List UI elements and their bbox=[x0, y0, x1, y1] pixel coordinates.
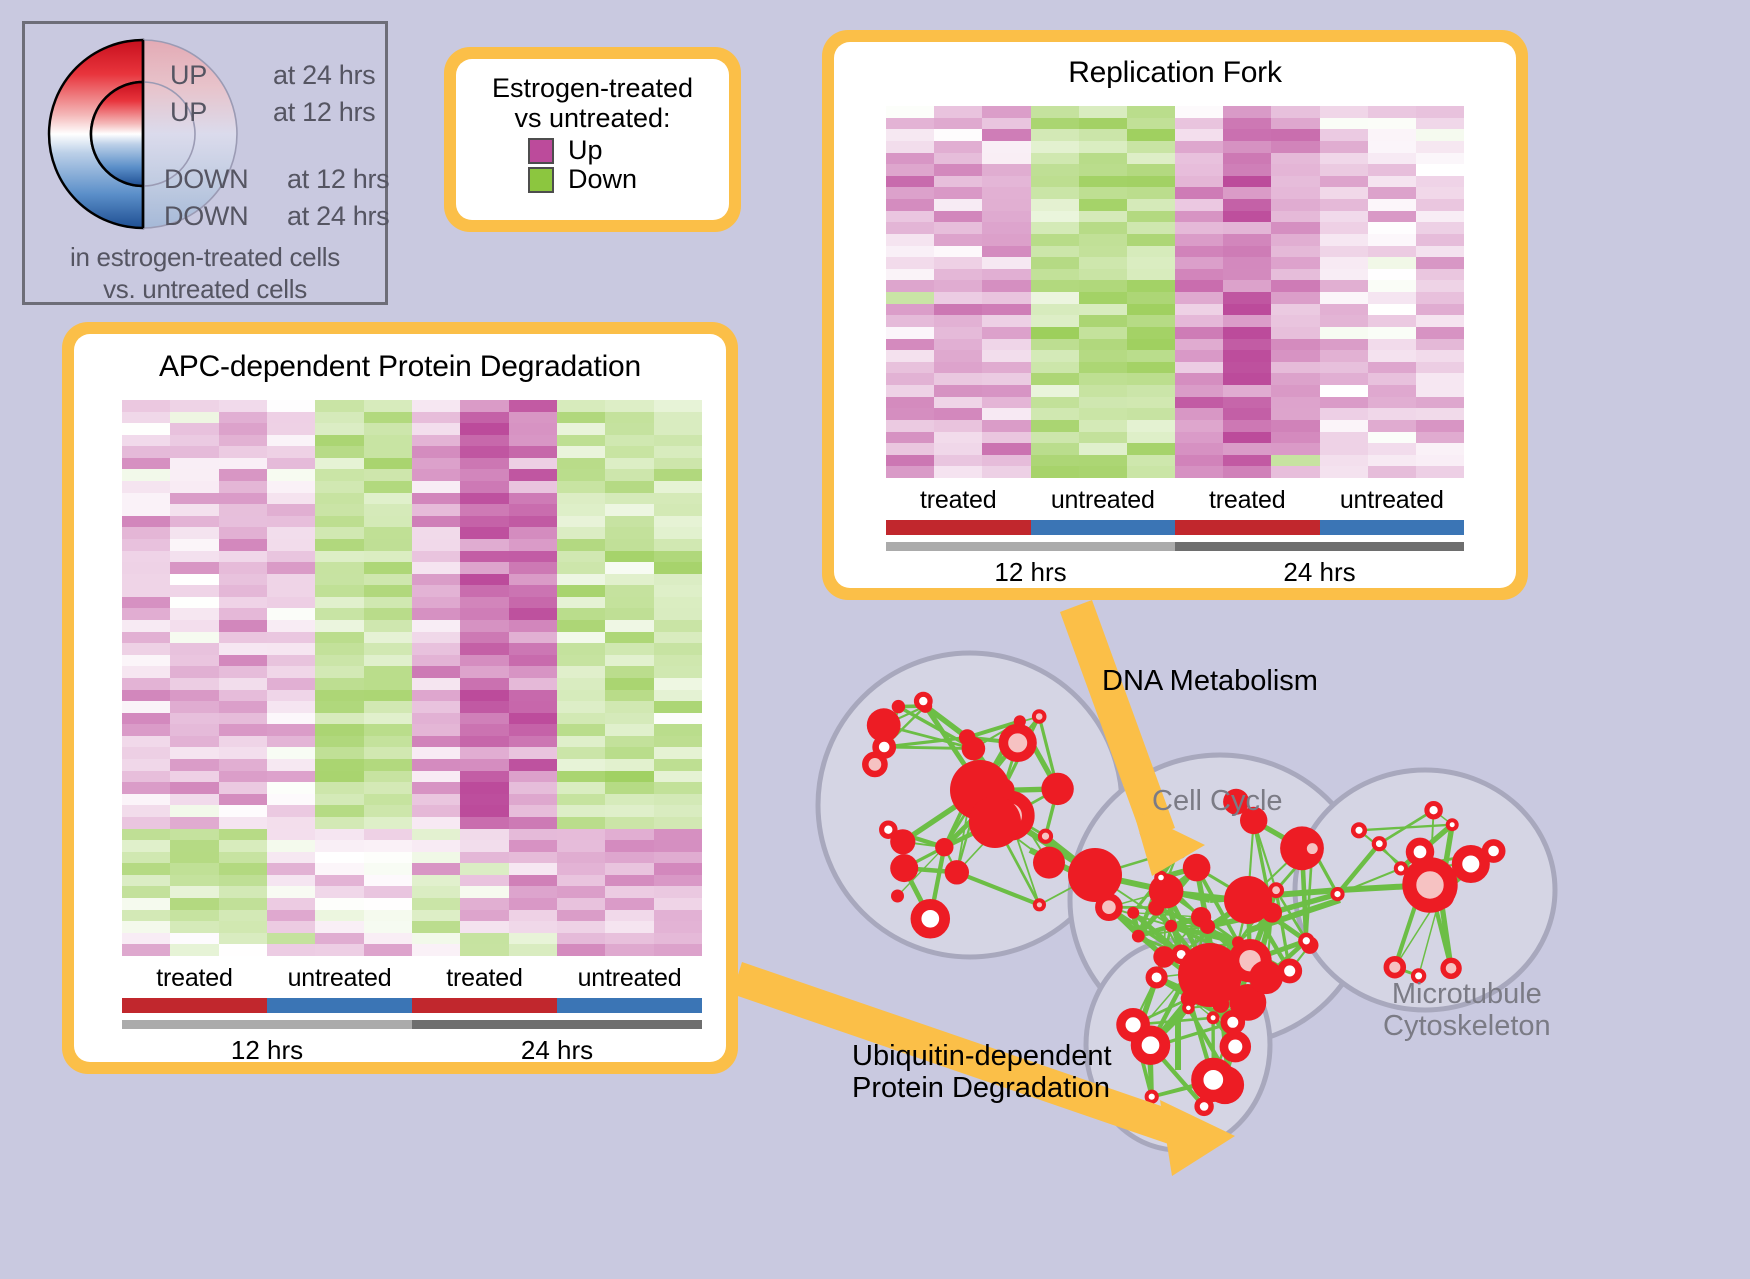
network-node[interactable] bbox=[1374, 838, 1385, 849]
heatmap-cell bbox=[267, 840, 315, 852]
network-node[interactable] bbox=[1147, 1092, 1157, 1102]
network-node[interactable] bbox=[916, 905, 945, 934]
network-node[interactable] bbox=[1304, 840, 1320, 856]
heatmap-cell bbox=[886, 373, 934, 385]
network-node[interactable] bbox=[1034, 711, 1045, 722]
treatment-bar bbox=[1031, 520, 1176, 535]
heatmap-cell bbox=[605, 782, 653, 794]
heatmap-cell bbox=[315, 539, 363, 551]
heatmap-cell bbox=[509, 771, 557, 783]
network-node[interactable] bbox=[1148, 900, 1164, 916]
heatmap-cell bbox=[122, 690, 170, 702]
heatmap-cell bbox=[1127, 257, 1175, 269]
network-node[interactable] bbox=[1178, 943, 1242, 1007]
heatmap-cell bbox=[170, 666, 218, 678]
heatmap-cell bbox=[1223, 246, 1271, 258]
heatmap-cell bbox=[315, 840, 363, 852]
heatmap-cell bbox=[1368, 234, 1416, 246]
estrogen-legend-title-line2: vs untreated: bbox=[456, 103, 729, 133]
heatmap-cell bbox=[654, 585, 702, 597]
heatmap-cell bbox=[122, 886, 170, 898]
heatmap-cell bbox=[364, 527, 412, 539]
heatmap-cell bbox=[605, 620, 653, 632]
ring-legend-direction-2: DOWN bbox=[164, 164, 248, 195]
heatmap-cell bbox=[1416, 106, 1464, 118]
heatmap-cell bbox=[122, 944, 170, 956]
heatmap-cell bbox=[219, 840, 267, 852]
heatmap-cell bbox=[982, 164, 1030, 176]
heatmap-cell bbox=[460, 875, 508, 887]
heatmap-cell bbox=[509, 805, 557, 817]
network-node[interactable] bbox=[935, 838, 953, 856]
heatmap-cell bbox=[1223, 176, 1271, 188]
heatmap-cell bbox=[1031, 211, 1079, 223]
heatmap-cell bbox=[605, 597, 653, 609]
network-node[interactable] bbox=[1281, 962, 1299, 980]
treatment-bar bbox=[1320, 520, 1465, 535]
heatmap-cell bbox=[509, 713, 557, 725]
heatmap-cell bbox=[219, 794, 267, 806]
heatmap-cell bbox=[1079, 269, 1127, 281]
heatmap-cell bbox=[412, 817, 460, 829]
heatmap-cell bbox=[170, 551, 218, 563]
heatmap-cell bbox=[460, 944, 508, 956]
heatmap-cell bbox=[509, 852, 557, 864]
heatmap-cell bbox=[267, 759, 315, 771]
heatmap-cell bbox=[1031, 432, 1079, 444]
heatmap-cell bbox=[1175, 292, 1223, 304]
heatmap-cell bbox=[1127, 234, 1175, 246]
heatmap-cell bbox=[1079, 164, 1127, 176]
heatmap-cell bbox=[1079, 315, 1127, 327]
heatmap-cell bbox=[122, 898, 170, 910]
heatmap-cell bbox=[886, 362, 934, 374]
heatmap-cell bbox=[364, 771, 412, 783]
heatmap-cell bbox=[886, 385, 934, 397]
heatmap-cell bbox=[122, 527, 170, 539]
heatmap-cell bbox=[364, 875, 412, 887]
heatmap-cell bbox=[1031, 222, 1079, 234]
heatmap-cell bbox=[364, 921, 412, 933]
heatmap-cell bbox=[934, 118, 982, 130]
heatmap-cell bbox=[219, 713, 267, 725]
heatmap-cell bbox=[1127, 222, 1175, 234]
heatmap-cell bbox=[315, 643, 363, 655]
network-node[interactable] bbox=[1232, 936, 1244, 948]
heatmap-cell bbox=[1223, 385, 1271, 397]
heatmap-cell bbox=[1079, 246, 1127, 258]
heatmap-cell bbox=[1416, 420, 1464, 432]
heatmap-cell bbox=[1368, 455, 1416, 467]
heatmap-cell bbox=[460, 574, 508, 586]
heatmap-cell bbox=[1368, 187, 1416, 199]
heatmap-cell bbox=[1031, 443, 1079, 455]
heatmap-cell bbox=[982, 199, 1030, 211]
heatmap-cell bbox=[654, 458, 702, 470]
network-node[interactable] bbox=[1183, 854, 1211, 882]
heatmap-cell bbox=[412, 863, 460, 875]
heatmap-cell bbox=[886, 257, 934, 269]
group-label: treated bbox=[1175, 486, 1320, 515]
heatmap-cell bbox=[412, 551, 460, 563]
heatmap-cell bbox=[460, 469, 508, 481]
heatmap-cell bbox=[1223, 315, 1271, 327]
heatmap-cell bbox=[1368, 373, 1416, 385]
heatmap-cell bbox=[557, 400, 605, 412]
heatmap-cell bbox=[886, 420, 934, 432]
heatmap-cell bbox=[267, 620, 315, 632]
heatmap-cell bbox=[1031, 257, 1079, 269]
heatmap-cell bbox=[654, 643, 702, 655]
heatmap-cell bbox=[509, 817, 557, 829]
time-label: 24 hrs bbox=[412, 1035, 702, 1066]
heatmap-cell bbox=[412, 771, 460, 783]
heatmap-cell bbox=[557, 933, 605, 945]
heatmap-cell bbox=[654, 944, 702, 956]
heatmap-cell bbox=[934, 339, 982, 351]
heatmap-cell bbox=[1320, 129, 1368, 141]
network-node[interactable] bbox=[892, 700, 905, 713]
heatmap-cell bbox=[557, 736, 605, 748]
network-node[interactable] bbox=[1448, 820, 1457, 829]
panel-replication-fork: Replication Fork treateduntreatedtreated… bbox=[822, 30, 1528, 600]
heatmap-cell bbox=[654, 412, 702, 424]
heatmap-cell bbox=[267, 400, 315, 412]
heatmap-cell bbox=[509, 620, 557, 632]
heatmap-cell bbox=[605, 516, 653, 528]
heatmap-cell bbox=[1079, 362, 1127, 374]
heatmap-cell bbox=[654, 446, 702, 458]
network-node[interactable] bbox=[1035, 900, 1044, 909]
heatmap-cell bbox=[1271, 141, 1319, 153]
heatmap-cell bbox=[219, 493, 267, 505]
network-node[interactable] bbox=[945, 860, 969, 884]
heatmap-cell bbox=[934, 141, 982, 153]
network-node[interactable] bbox=[1014, 715, 1026, 727]
heatmap-cell bbox=[1031, 280, 1079, 292]
ring-legend-direction-0: UP bbox=[170, 60, 207, 91]
network-node[interactable] bbox=[1270, 884, 1282, 896]
heatmap-cell bbox=[1416, 129, 1464, 141]
heatmap-cell bbox=[170, 435, 218, 447]
heatmap-cell bbox=[1079, 187, 1127, 199]
heatmap-cell bbox=[1223, 362, 1271, 374]
heatmap-cell bbox=[982, 362, 1030, 374]
network-node[interactable] bbox=[1224, 1035, 1247, 1058]
heatmap-cell bbox=[170, 643, 218, 655]
heatmap-cell bbox=[605, 632, 653, 644]
heatmap-cell bbox=[364, 852, 412, 864]
network-node[interactable] bbox=[1396, 863, 1406, 873]
time-bar bbox=[886, 542, 1175, 551]
heatmap-cell bbox=[267, 527, 315, 539]
heatmap-cell bbox=[557, 585, 605, 597]
heatmap-cell bbox=[1031, 141, 1079, 153]
heatmap-cell bbox=[122, 493, 170, 505]
heatmap-cell bbox=[982, 153, 1030, 165]
heatmap-cell bbox=[170, 400, 218, 412]
heatmap-cell bbox=[267, 690, 315, 702]
heatmap-cell bbox=[267, 921, 315, 933]
network-node[interactable] bbox=[1457, 850, 1485, 878]
heatmap-cell bbox=[460, 933, 508, 945]
heatmap-cell bbox=[557, 562, 605, 574]
network-node[interactable] bbox=[1041, 773, 1073, 805]
network-node[interactable] bbox=[890, 854, 918, 882]
network-node[interactable] bbox=[1353, 825, 1365, 837]
heatmap-cell bbox=[1320, 187, 1368, 199]
heatmap-cell bbox=[1223, 373, 1271, 385]
network-node[interactable] bbox=[969, 796, 1021, 848]
heatmap-cell bbox=[1368, 141, 1416, 153]
heatmap-cell bbox=[509, 863, 557, 875]
heatmap-cell bbox=[170, 655, 218, 667]
network-node[interactable] bbox=[1127, 907, 1139, 919]
network-node[interactable] bbox=[1033, 847, 1065, 879]
heatmap-cell bbox=[934, 176, 982, 188]
heatmap-cell bbox=[1223, 397, 1271, 409]
heatmap-cell bbox=[654, 632, 702, 644]
heatmap-cell bbox=[122, 759, 170, 771]
heatmap-cell bbox=[1416, 327, 1464, 339]
heatmap-cell bbox=[412, 481, 460, 493]
heatmap-cell bbox=[170, 771, 218, 783]
heatmap-cell bbox=[1271, 106, 1319, 118]
network-node[interactable] bbox=[1209, 1013, 1218, 1022]
heatmap-cell bbox=[267, 574, 315, 586]
network-node[interactable] bbox=[1409, 864, 1450, 905]
network-node[interactable] bbox=[1132, 930, 1145, 943]
heatmap-cell bbox=[1368, 327, 1416, 339]
heatmap-cell bbox=[364, 933, 412, 945]
network-node[interactable] bbox=[1443, 960, 1459, 976]
heatmap-cell bbox=[605, 713, 653, 725]
heatmap-cell bbox=[1368, 397, 1416, 409]
heatmap-cell bbox=[1223, 269, 1271, 281]
heatmap-cell bbox=[557, 852, 605, 864]
heatmap-cell bbox=[934, 234, 982, 246]
heatmap-cell bbox=[509, 469, 557, 481]
heatmap-cell bbox=[1127, 315, 1175, 327]
heatmap-cell bbox=[557, 678, 605, 690]
heatmap-cell bbox=[267, 678, 315, 690]
heatmap-cell bbox=[267, 585, 315, 597]
heatmap-cell bbox=[315, 481, 363, 493]
heatmap-cell bbox=[886, 164, 934, 176]
heatmap-cell bbox=[557, 921, 605, 933]
heatmap-cell bbox=[654, 562, 702, 574]
heatmap-cell bbox=[219, 632, 267, 644]
heatmap-cell bbox=[654, 539, 702, 551]
network-node[interactable] bbox=[1144, 819, 1166, 841]
heatmap-cell bbox=[219, 504, 267, 516]
heatmap-cell bbox=[934, 420, 982, 432]
heatmap-cell bbox=[315, 701, 363, 713]
network-node[interactable] bbox=[1149, 969, 1165, 985]
heatmap-cell bbox=[886, 443, 934, 455]
heatmap-cell bbox=[219, 736, 267, 748]
heatmap-cell bbox=[170, 527, 218, 539]
heatmap-cell bbox=[1127, 327, 1175, 339]
network-node[interactable] bbox=[1121, 1013, 1145, 1037]
replication-fork-title: Replication Fork bbox=[834, 42, 1516, 90]
network-node[interactable] bbox=[865, 755, 884, 774]
heatmap-cell bbox=[982, 408, 1030, 420]
heatmap-cell bbox=[1079, 141, 1127, 153]
network-node[interactable] bbox=[1040, 831, 1051, 842]
heatmap-cell bbox=[412, 921, 460, 933]
ring-legend-footer-line2: vs. untreated cells bbox=[25, 274, 385, 305]
heatmap-cell bbox=[1416, 455, 1464, 467]
heatmap-cell bbox=[267, 435, 315, 447]
heatmap-cell bbox=[982, 118, 1030, 130]
heatmap-cell bbox=[1320, 339, 1368, 351]
network-node[interactable] bbox=[1249, 960, 1283, 994]
up-color-swatch bbox=[528, 138, 554, 164]
heatmap-cell bbox=[886, 408, 934, 420]
heatmap-cell bbox=[315, 632, 363, 644]
heatmap-cell bbox=[315, 782, 363, 794]
heatmap-cell bbox=[557, 469, 605, 481]
heatmap-cell bbox=[364, 574, 412, 586]
heatmap-cell bbox=[1031, 315, 1079, 327]
heatmap-cell bbox=[122, 643, 170, 655]
heatmap-cell bbox=[460, 829, 508, 841]
heatmap-cell bbox=[122, 655, 170, 667]
network-node[interactable] bbox=[1485, 842, 1502, 859]
heatmap-cell bbox=[1320, 350, 1368, 362]
heatmap-cell bbox=[654, 469, 702, 481]
network-node[interactable] bbox=[891, 890, 904, 903]
heatmap-cell bbox=[934, 432, 982, 444]
heatmap-cell bbox=[1271, 327, 1319, 339]
heatmap-cell bbox=[1175, 397, 1223, 409]
time-bar bbox=[122, 1020, 412, 1029]
heatmap-cell bbox=[1320, 443, 1368, 455]
heatmap-cell bbox=[1416, 234, 1464, 246]
heatmap-cell bbox=[267, 562, 315, 574]
heatmap-cell bbox=[122, 817, 170, 829]
heatmap-cell bbox=[267, 643, 315, 655]
heatmap-cell bbox=[1175, 304, 1223, 316]
heatmap-cell bbox=[557, 759, 605, 771]
heatmap-cell bbox=[219, 608, 267, 620]
heatmap-cell bbox=[412, 423, 460, 435]
network-node[interactable] bbox=[1332, 889, 1342, 899]
heatmap-cell bbox=[886, 280, 934, 292]
heatmap-cell bbox=[1416, 466, 1464, 478]
treatment-bar bbox=[267, 998, 412, 1013]
direction-ring-legend: UP at 24 hrs UP at 12 hrs DOWN at 12 hrs… bbox=[22, 21, 388, 305]
heatmap-cell bbox=[1127, 141, 1175, 153]
heatmap-cell bbox=[170, 933, 218, 945]
network-node[interactable] bbox=[917, 694, 931, 708]
heatmap-cell bbox=[557, 863, 605, 875]
network-node[interactable] bbox=[1427, 804, 1440, 817]
heatmap-cell bbox=[605, 562, 653, 574]
heatmap-cell bbox=[219, 690, 267, 702]
heatmap-cell bbox=[170, 469, 218, 481]
heatmap-cell bbox=[1368, 199, 1416, 211]
heatmap-cell bbox=[1175, 362, 1223, 374]
heatmap-cell bbox=[460, 423, 508, 435]
heatmap-cell bbox=[219, 400, 267, 412]
time-label: 24 hrs bbox=[1175, 557, 1464, 588]
heatmap-cell bbox=[219, 863, 267, 875]
heatmap-cell bbox=[886, 292, 934, 304]
heatmap-cell bbox=[1175, 118, 1223, 130]
heatmap-cell bbox=[557, 539, 605, 551]
heatmap-cell bbox=[557, 713, 605, 725]
heatmap-cell bbox=[267, 469, 315, 481]
heatmap-cell bbox=[170, 829, 218, 841]
heatmap-cell bbox=[364, 736, 412, 748]
heatmap-cell bbox=[122, 423, 170, 435]
ring-legend-time-1: at 12 hrs bbox=[273, 97, 375, 128]
network-node[interactable] bbox=[959, 729, 976, 746]
heatmap-cell bbox=[1079, 373, 1127, 385]
network-node[interactable] bbox=[1068, 848, 1122, 902]
network-node[interactable] bbox=[1170, 841, 1188, 859]
heatmap-cell bbox=[654, 713, 702, 725]
network-node[interactable] bbox=[1156, 873, 1166, 883]
heatmap-cell bbox=[364, 747, 412, 759]
heatmap-cell bbox=[557, 551, 605, 563]
heatmap-cell bbox=[219, 886, 267, 898]
heatmap-cell bbox=[1271, 397, 1319, 409]
network-node[interactable] bbox=[1200, 919, 1215, 934]
heatmap-cell bbox=[315, 875, 363, 887]
heatmap-cell bbox=[654, 574, 702, 586]
heatmap-cell bbox=[170, 597, 218, 609]
heatmap-cell bbox=[1127, 187, 1175, 199]
heatmap-cell bbox=[1031, 408, 1079, 420]
network-node[interactable] bbox=[890, 829, 915, 854]
network-node[interactable] bbox=[1165, 920, 1177, 932]
network-node[interactable] bbox=[1224, 876, 1272, 924]
heatmap-cell bbox=[1079, 304, 1127, 316]
network-node[interactable] bbox=[1300, 935, 1312, 947]
heatmap-cell bbox=[1127, 246, 1175, 258]
heatmap-cell bbox=[1416, 443, 1464, 455]
heatmap-cell bbox=[982, 315, 1030, 327]
heatmap-cell bbox=[219, 481, 267, 493]
heatmap-cell bbox=[605, 481, 653, 493]
heatmap-cell bbox=[1416, 304, 1464, 316]
heatmap-cell bbox=[412, 597, 460, 609]
ring-legend-time-0: at 24 hrs bbox=[273, 60, 375, 91]
heatmap-cell bbox=[605, 701, 653, 713]
heatmap-cell bbox=[934, 129, 982, 141]
heatmap-cell bbox=[315, 551, 363, 563]
heatmap-cell bbox=[122, 852, 170, 864]
network-node[interactable] bbox=[1386, 959, 1403, 976]
heatmap-cell bbox=[654, 516, 702, 528]
heatmap-cell bbox=[170, 747, 218, 759]
network-node[interactable] bbox=[1224, 1013, 1242, 1031]
heatmap-cell bbox=[1223, 257, 1271, 269]
heatmap-cell bbox=[886, 432, 934, 444]
heatmap-cell bbox=[170, 585, 218, 597]
heatmap-replication-fork bbox=[886, 106, 1464, 478]
heatmap-cell bbox=[364, 805, 412, 817]
network-node[interactable] bbox=[1197, 1064, 1229, 1096]
network-node[interactable] bbox=[1184, 1004, 1193, 1013]
network-node[interactable] bbox=[1003, 729, 1032, 758]
heatmap-cell bbox=[122, 736, 170, 748]
heatmap-cell bbox=[267, 794, 315, 806]
heatmap-cell bbox=[557, 481, 605, 493]
